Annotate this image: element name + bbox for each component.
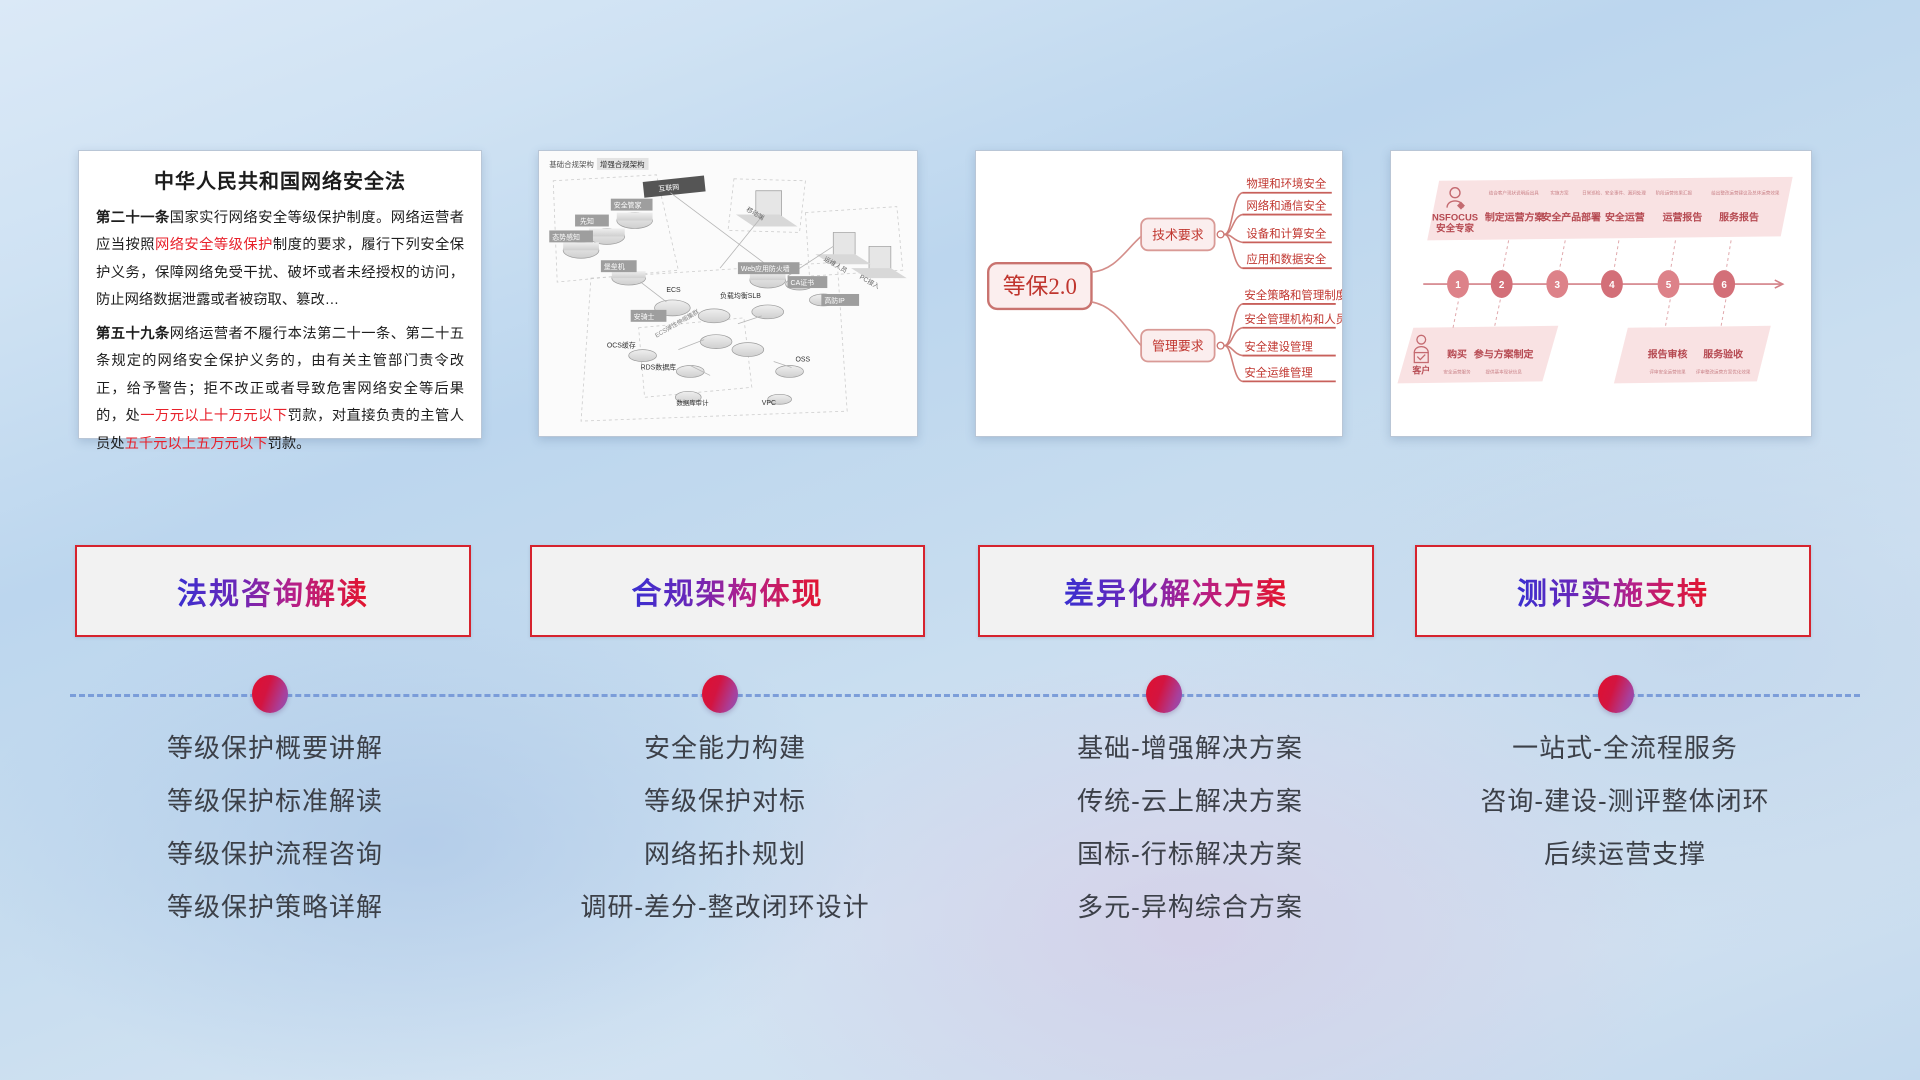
law-article-21: 第二十一条国家实行网络安全等级保护制度。网络运营者应当按照网络安全等级保护制度的… <box>96 205 464 315</box>
section-title-label-1: 法规咨询解读 <box>177 569 369 613</box>
roadmap-bottom-title-4: 服务验收 <box>1703 348 1743 361</box>
mindmap-leaf-2-3: 安全建设管理 <box>1244 340 1313 354</box>
list-item: 多元-异构综合方案 <box>965 894 1415 920</box>
node-label-ca-cert: CA证书 <box>791 278 815 287</box>
roadmap-top-title-3: 安全运营 <box>1605 211 1645 224</box>
mindmap-leaf-2-4: 安全运维管理 <box>1244 365 1313 379</box>
mindmap-leaf-1-2: 网络和通信安全 <box>1246 199 1326 213</box>
node-label-slb: 负载均衡SLB <box>720 291 761 300</box>
list-item: 安全能力构建 <box>500 735 950 761</box>
roadmap-top-note-3: 日常巡检、安全事件、漏洞处理 <box>1582 190 1646 197</box>
article-59-label: 第五十九条 <box>96 326 170 342</box>
architecture-diagram: 基础合规架构 增强合规架构 互联网 <box>539 151 917 436</box>
roadmap-bottom-note-2: 提供基本现状信息 <box>1485 368 1522 375</box>
list-item: 国标-行标解决方案 <box>965 841 1415 867</box>
roadmap-top-title-4: 运营报告 <box>1663 211 1703 224</box>
node-label-db-audit: 数据库审计 <box>676 398 709 407</box>
roadmap-bottom-note-4: 评审整改运营方案优化效果 <box>1696 368 1751 375</box>
list-item: 网络拓扑规划 <box>500 841 950 867</box>
mindmap-root-node: 等保2.0 <box>988 263 1091 309</box>
mindmap-branch-technical: 技术要求 <box>1141 219 1224 251</box>
roadmap-top-note-2: 实施方案 <box>1550 190 1569 197</box>
section-title-label-3: 差异化解决方案 <box>1064 569 1288 613</box>
article-21-label: 第二十一条 <box>96 210 170 226</box>
node-label-rds: RDS数据库 <box>641 362 677 371</box>
section-title-box-1[interactable]: 法规咨询解读 <box>75 545 471 637</box>
roadmap-bottom-title-2: 参与方案制定 <box>1474 348 1534 361</box>
mindmap-leaf-2-1: 安全策略和管理制度 <box>1244 288 1342 302</box>
roadmap-step-5: 5 <box>1666 280 1672 291</box>
node-label-anti-ddos-ip: 高防IP <box>824 296 845 305</box>
tab-enhanced-architecture-label: 增强合规架构 <box>600 159 645 169</box>
mindmap-branch-1-label: 技术要求 <box>1152 228 1204 242</box>
article-59-highlight-1: 一万元以上十万元以下 <box>140 408 287 424</box>
list-item: 等级保护对标 <box>500 788 950 814</box>
slide-root: 中华人民共和国网络安全法 第二十一条国家实行网络安全等级保护制度。网络运营者应当… <box>0 0 1920 1080</box>
law-body: 中华人民共和国网络安全法 第二十一条国家实行网络安全等级保护制度。网络运营者应当… <box>79 151 481 468</box>
roadmap-bottom-title-3: 报告审核 <box>1648 348 1688 361</box>
roadmap-top-note-5: 给出整改运营建议及总体运营效果 <box>1711 190 1780 197</box>
timeline-dot-3[interactable] <box>1146 675 1182 713</box>
roadmap-top-note-4: 阶段运营效果汇报 <box>1656 190 1693 197</box>
customer-role-label: 客户 <box>1411 364 1430 375</box>
section-title-row: 法规咨询解读 合规架构体现 差异化解决方案 测评实施支持 <box>0 545 1920 645</box>
nsfocus-service-roadmap-card: NSFOCUS 安全专家 结合客户现状说明后出具 实施方案 日常巡检、安全事件、… <box>1390 150 1812 437</box>
mindmap-branch-management: 管理要求 <box>1141 330 1224 362</box>
section-title-label-4: 测评实施支持 <box>1517 569 1709 613</box>
timeline-dashed-line <box>70 694 1860 697</box>
mindmap-leaf-2-2: 安全管理机构和人员 <box>1244 312 1342 326</box>
node-label-ocs-cache: OCS缓存 <box>607 341 636 350</box>
list-item: 传统-云上解决方案 <box>965 788 1415 814</box>
roadmap-step-1: 1 <box>1455 280 1461 291</box>
mindmap-branch-2-label: 管理要求 <box>1152 340 1204 354</box>
section-items-column-2: 安全能力构建 等级保护对标 网络拓扑规划 调研-差分-整改闭环设计 <box>500 735 950 947</box>
cloud-compliance-architecture-card: 基础合规架构 增强合规架构 互联网 <box>538 150 918 437</box>
section-items-column-3: 基础-增强解决方案 传统-云上解决方案 国标-行标解决方案 多元-异构综合方案 <box>965 735 1415 947</box>
node-label-anqishi: 安骑士 <box>634 312 655 321</box>
section-title-label-2: 合规架构体现 <box>632 569 824 613</box>
roadmap-step-4: 4 <box>1609 280 1615 291</box>
node-label-oss: OSS <box>796 357 811 364</box>
roadmap-top-title-1: 制定运营方案 <box>1485 211 1546 224</box>
timeline-dot-1[interactable] <box>252 675 288 713</box>
list-item: 咨询-建设-测评整体闭环 <box>1415 788 1835 814</box>
section-title-box-3[interactable]: 差异化解决方案 <box>978 545 1374 637</box>
mindmap-leaf-1-3: 设备和计算安全 <box>1246 226 1326 240</box>
list-item: 等级保护概要讲解 <box>60 735 490 761</box>
roadmap-top-title-5: 服务报告 <box>1719 211 1759 224</box>
node-label-xianzhi: 先知 <box>580 216 594 225</box>
article-21-highlight: 网络安全等级保护 <box>155 237 273 253</box>
roadmap-bottom-note-3: 评审安全运营效果 <box>1649 368 1686 375</box>
roadmap-step-3: 3 <box>1555 280 1561 291</box>
article-59-highlight-2: 五千元以上五万元以下 <box>125 436 268 452</box>
node-label-vpc: VPC <box>762 400 776 407</box>
roadmap-diagram: NSFOCUS 安全专家 结合客户现状说明后出具 实施方案 日常巡检、安全事件、… <box>1391 151 1811 436</box>
law-article-59: 第五十九条网络运营者不履行本法第二十一条、第二十五条规定的网络安全保护义务的，由… <box>96 321 464 458</box>
list-item: 等级保护策略详解 <box>60 894 490 920</box>
mindmap-leaf-1-1: 物理和环境安全 <box>1246 177 1326 191</box>
section-items-row: 等级保护概要讲解 等级保护标准解读 等级保护流程咨询 等级保护策略详解 安全能力… <box>0 735 1920 1035</box>
node-label-security-steward: 安全管家 <box>614 201 642 210</box>
roadmap-top-note-1: 结合客户现状说明后出具 <box>1489 190 1539 197</box>
mindmap-root-label: 等保2.0 <box>1003 274 1077 299</box>
node-label-waf: Web应用防火墙 <box>741 264 790 273</box>
expert-role-line-2: 安全专家 <box>1436 222 1474 233</box>
section-title-box-2[interactable]: 合规架构体现 <box>530 545 925 637</box>
law-title: 中华人民共和国网络安全法 <box>96 165 464 194</box>
dengbao-mindmap-card: 等保2.0 技术要求 <box>975 150 1343 437</box>
roadmap-bottom-title-1: 购买 <box>1447 348 1467 361</box>
section-items-column-4: 一站式-全流程服务 咨询-建设-测评整体闭环 后续运营支撑 <box>1415 735 1835 894</box>
article-59-text-3: 罚款。 <box>268 436 311 452</box>
list-item: 等级保护流程咨询 <box>60 841 490 867</box>
roadmap-bottom-note-1: 安全运营服务 <box>1443 368 1471 375</box>
node-label-situational-awareness: 态势感知 <box>552 232 580 241</box>
list-item: 后续运营支撑 <box>1415 841 1835 867</box>
cybersecurity-law-card: 中华人民共和国网络安全法 第二十一条国家实行网络安全等级保护制度。网络运营者应当… <box>78 150 482 439</box>
roadmap-top-title-2: 安全产品部署 <box>1541 211 1601 224</box>
roadmap-step-6: 6 <box>1721 280 1727 291</box>
section-items-column-1: 等级保护概要讲解 等级保护标准解读 等级保护流程咨询 等级保护策略详解 <box>60 735 490 947</box>
timeline <box>0 660 1920 730</box>
node-label-ecs: ECS <box>666 287 681 294</box>
illustration-card-row: 中华人民共和国网络安全法 第二十一条国家实行网络安全等级保护制度。网络运营者应当… <box>0 150 1920 440</box>
timeline-dot-4[interactable] <box>1598 675 1634 713</box>
list-item: 等级保护标准解读 <box>60 788 490 814</box>
roadmap-step-2: 2 <box>1499 280 1505 291</box>
list-item: 基础-增强解决方案 <box>965 735 1415 761</box>
section-title-box-4[interactable]: 测评实施支持 <box>1415 545 1811 637</box>
mindmap-leaf-1-4: 应用和数据安全 <box>1246 252 1326 266</box>
node-label-bastion-host: 堡垒机 <box>604 262 625 271</box>
expert-role-line-1: NSFOCUS <box>1432 212 1478 223</box>
list-item: 调研-差分-整改闭环设计 <box>500 894 950 920</box>
list-item: 一站式-全流程服务 <box>1415 735 1835 761</box>
tab-basic-architecture-label: 基础合规架构 <box>549 159 594 169</box>
mindmap-diagram: 等保2.0 技术要求 <box>976 151 1342 436</box>
timeline-dot-2[interactable] <box>702 675 738 713</box>
